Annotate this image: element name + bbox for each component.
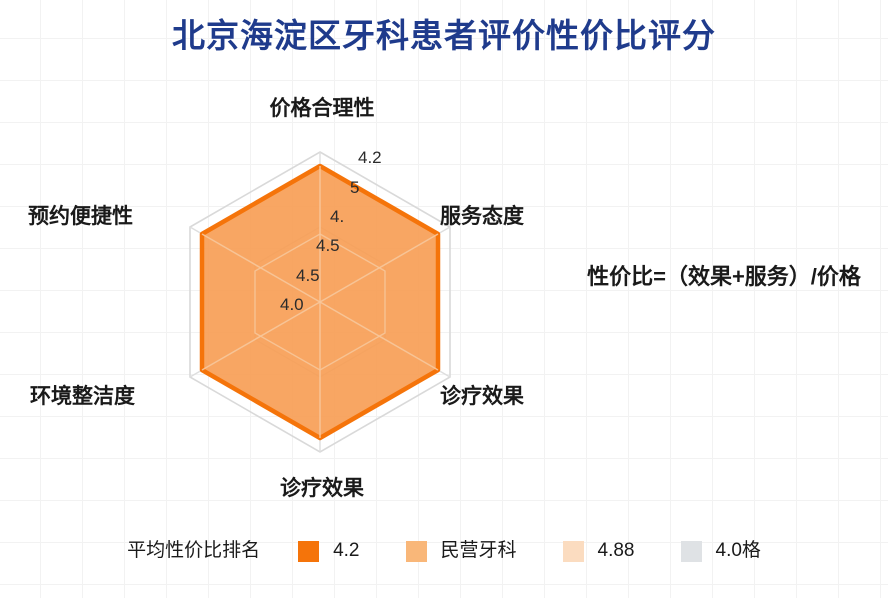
axis-label-price-reasonableness: 价格合理性 [232,96,412,122]
page-title: 北京海淀区牙科患者评价性价比评分 [0,14,888,58]
legend-swatch-pale-peach [563,541,584,562]
radial-tick-label-6: 4.0 [280,295,304,315]
axis-label-treatment-effect-right: 诊疗效果 [440,384,524,410]
radar-chart-figure: 北京海淀区牙科患者评价性价比评分 [0,0,888,598]
legend-title: 平均性价比排名 [127,539,260,563]
axis-label-treatment-effect-bottom: 诊疗效果 [232,476,412,502]
axis-label-environment-cleanliness: 环境整洁度 [30,384,135,410]
formula-annotation: 性价比=（效果+服务）/价格 [560,262,888,292]
legend-item[interactable]: 4.88 [563,539,635,563]
legend-swatch-gray [681,541,702,562]
legend-swatch-light-orange [406,541,427,562]
axis-label-appointment-convenience: 预约便捷性 [28,204,133,230]
chart-legend: 平均性价比排名 4.2 民营牙科 4.88 4.0格 [0,536,888,566]
radial-tick-label-3: 4. [330,207,344,227]
legend-item[interactable]: 民营牙科 [406,539,517,563]
legend-item[interactable]: 4.0格 [681,539,761,563]
axis-label-service-attitude: 服务态度 [440,204,524,230]
legend-item[interactable]: 4.2 [298,539,359,563]
legend-label: 4.2 [333,539,359,563]
legend-label: 4.0格 [716,539,761,563]
radial-tick-label-2: 5 [350,178,359,198]
radial-tick-label-5: 4.5 [296,266,320,286]
radial-tick-label-4: 4.5 [316,236,340,256]
radial-tick-label-1: 4.2 [358,148,382,168]
legend-label: 民营牙科 [441,539,517,563]
radar-plot-area: 价格合理性 服务态度 诊疗效果 诊疗效果 环境整洁度 预约便捷性 4.2 5 4… [20,86,580,516]
legend-swatch-orange [298,541,319,562]
legend-label: 4.88 [598,539,635,563]
